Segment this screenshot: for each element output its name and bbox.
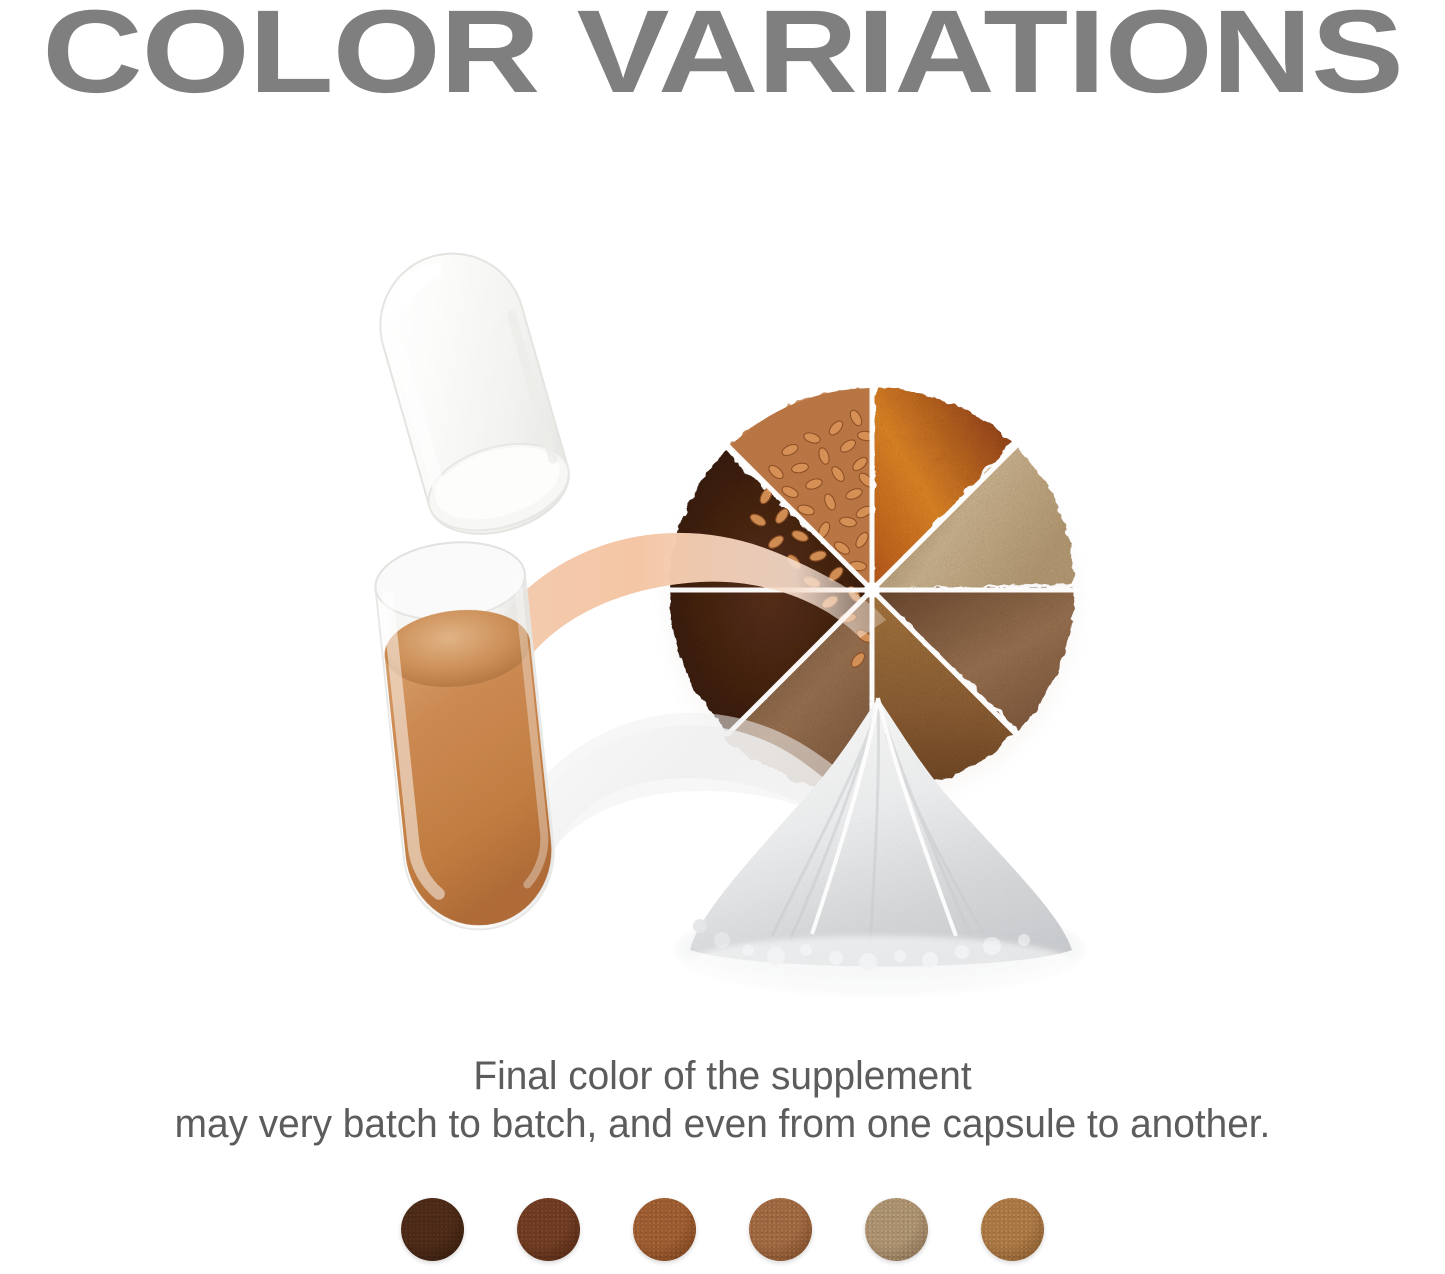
swatch-2-dark-reddish-brown <box>517 1198 580 1261</box>
swatch-3-rust-brown <box>633 1198 696 1261</box>
product-illustration <box>0 150 1445 1030</box>
caption: Final color of the supplement may very b… <box>22 1052 1424 1148</box>
caption-line-1: Final color of the supplement <box>22 1052 1424 1100</box>
swatch-6-golden-brown <box>981 1198 1044 1261</box>
swatch-4-medium-brown <box>749 1198 812 1261</box>
swatch-1-dark-chocolate <box>401 1198 464 1261</box>
page-title: COLOR VARIATIONS <box>0 0 1445 118</box>
caption-line-2: may very batch to batch, and even from o… <box>22 1100 1424 1148</box>
swatch-5-light-tan <box>865 1198 928 1261</box>
color-swatch-row <box>0 1198 1445 1261</box>
capsule-cap <box>363 237 580 550</box>
